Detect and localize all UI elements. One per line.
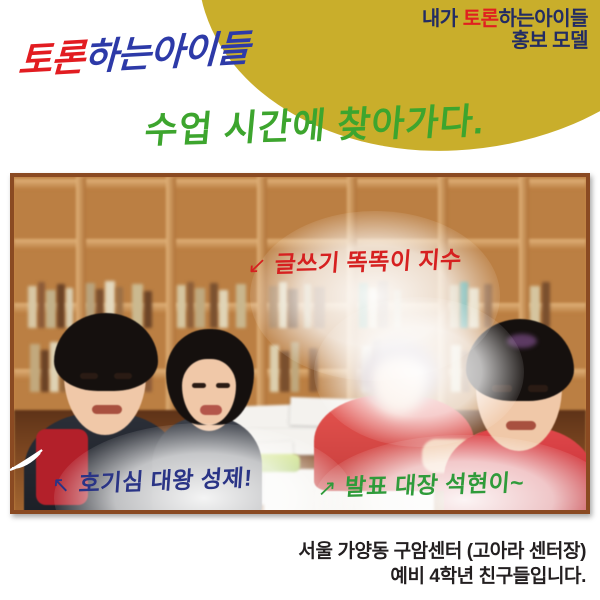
banner-prefix: 내가 (422, 8, 463, 30)
book (450, 285, 459, 328)
annotation-writing-genius: ↙글쓰기 똑똑이 지수 (247, 240, 464, 280)
banner-line-1: 내가 토론하는아이들 (422, 8, 588, 30)
logo-rest-text: 하는아이들 (83, 27, 249, 77)
footer-block: 서울 가양동 구암센터 (고아라 센터장) 예비 4학년 친구들입니다. (298, 539, 586, 590)
book (144, 291, 152, 328)
book (210, 283, 218, 328)
annotation-presentation-captain-label: 발표 대장 석현이~ (344, 469, 525, 500)
child-right-mouth (506, 421, 536, 430)
arrow-up-left-icon: ↖ (51, 472, 72, 499)
book (46, 290, 56, 328)
book (288, 289, 298, 328)
child-left-eye (114, 373, 132, 379)
poster-root: 내가 토론하는아이들 홍보 모델 토론하는아이들 수업 시간에 찾아가다. (0, 0, 600, 600)
book (394, 290, 401, 328)
book (177, 285, 186, 328)
banner-line-2: 홍보 모델 (422, 30, 588, 52)
brand-logo: 토론하는아이들 (17, 17, 250, 84)
book (41, 350, 49, 392)
photo-image (14, 177, 586, 510)
book (187, 282, 194, 328)
child-right-eye (492, 385, 512, 392)
book (66, 288, 73, 328)
book (270, 345, 279, 392)
book (359, 283, 368, 328)
child-right-eye (528, 385, 548, 392)
banner-suffix: 하는아이들 (499, 8, 589, 30)
book (291, 342, 299, 392)
annotation-presentation-captain: ↗발표 대장 석현이~ (317, 463, 526, 502)
child-middle-mouth (200, 405, 222, 415)
book (236, 284, 246, 328)
annotation-curiosity-king-label: 호기심 대왕 성제! (78, 464, 253, 496)
book (309, 348, 318, 392)
footer-line-2: 예비 4학년 친구들입니다. (298, 564, 586, 590)
book (28, 286, 37, 328)
child-right-hair-clip (507, 334, 537, 348)
book (30, 344, 40, 392)
book (195, 288, 205, 328)
book (451, 345, 461, 392)
shelf-divider (438, 177, 448, 412)
book (484, 284, 492, 328)
book (219, 290, 228, 328)
banner-text-block: 내가 토론하는아이들 홍보 모델 (422, 8, 588, 53)
book (269, 286, 278, 328)
book (469, 288, 479, 328)
headline-text: 수업 시간에 찾아가다. (143, 92, 488, 154)
book (57, 284, 65, 328)
shelf-divider (257, 177, 267, 412)
shelf-divider (347, 177, 357, 412)
book (369, 288, 377, 328)
book (38, 282, 45, 328)
book (542, 282, 550, 328)
book (378, 281, 388, 328)
arrow-up-right-icon: ↗ (317, 475, 338, 502)
child-middle-eye (216, 383, 230, 388)
swoosh-accent-icon (8, 448, 46, 474)
book (460, 282, 468, 328)
book (279, 282, 287, 328)
book (314, 287, 325, 328)
book (304, 284, 311, 328)
banner-highlight: 토론 (463, 8, 499, 30)
logo-highlight-text: 토론 (17, 37, 84, 82)
child-middle-eye (192, 383, 206, 388)
child-left-mouth (92, 405, 122, 414)
child-left-eye (80, 373, 98, 379)
annotation-writing-genius-label: 글쓰기 똑똑이 지수 (274, 246, 463, 277)
book (280, 351, 290, 392)
annotation-curiosity-king: ↖호기심 대왕 성제! (51, 458, 254, 499)
arrow-down-left-icon: ↙ (247, 252, 268, 279)
footer-line-1: 서울 가양동 구암센터 (고아라 센터장) (298, 539, 586, 565)
shelf-board (14, 179, 586, 190)
